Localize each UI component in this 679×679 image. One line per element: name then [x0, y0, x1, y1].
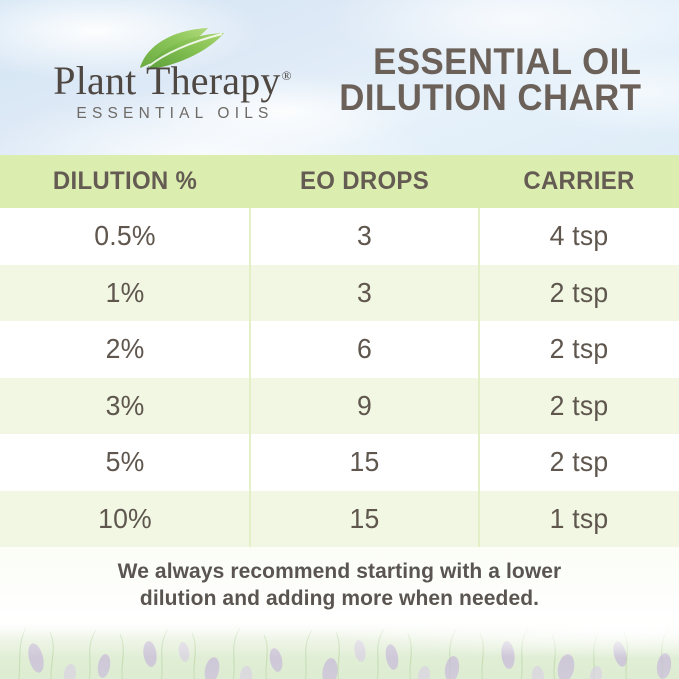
note-line2: dilution and adding more when needed.: [140, 587, 539, 610]
column-divider: [478, 378, 480, 435]
dilution-table: DILUTION % EO DROPS CARRIER 0.5% 3 4 tsp…: [0, 155, 679, 547]
cell-drops: 9: [256, 390, 474, 422]
table-row: 0.5% 3 4 tsp: [0, 208, 679, 265]
cell-carrier: 2 tsp: [484, 390, 674, 422]
cell-drops: 15: [256, 446, 474, 478]
table-row: 1% 3 2 tsp: [0, 265, 679, 322]
recommendation-note: We always recommend starting with a lowe…: [0, 547, 679, 624]
column-divider: [249, 208, 251, 265]
column-divider: [249, 434, 251, 491]
cell-carrier: 2 tsp: [484, 277, 674, 309]
table-header-row: DILUTION % EO DROPS CARRIER: [0, 155, 679, 208]
cell-drops: 15: [256, 503, 474, 535]
brand-name: Plant Therapy®: [53, 61, 291, 101]
table-row: 2% 6 2 tsp: [0, 321, 679, 378]
note-text: We always recommend starting with a lowe…: [118, 559, 562, 613]
header-banner: Plant Therapy® ESSENTIAL OILS ESSENTIAL …: [0, 0, 679, 155]
brand-name-text: Plant Therapy: [53, 58, 280, 103]
lavender-field-photo: [0, 624, 679, 679]
cell-carrier: 2 tsp: [484, 446, 674, 478]
column-divider: [478, 208, 480, 265]
column-divider: [249, 265, 251, 322]
cell-carrier: 4 tsp: [484, 220, 674, 252]
brand-logo: Plant Therapy® ESSENTIAL OILS: [40, 28, 305, 123]
column-divider: [478, 434, 480, 491]
table-row: 3% 9 2 tsp: [0, 378, 679, 435]
column-divider: [478, 265, 480, 322]
cell-dilution: 10%: [6, 503, 244, 535]
column-header-dilution: DILUTION %: [5, 167, 245, 196]
column-divider: [478, 321, 480, 378]
column-header-carrier: CARRIER: [483, 167, 675, 196]
registered-mark: ®: [282, 68, 292, 83]
cell-dilution: 1%: [6, 277, 244, 309]
page-title-line2: DILUTION CHART: [339, 80, 641, 116]
cell-dilution: 3%: [6, 390, 244, 422]
column-divider: [249, 321, 251, 378]
cell-drops: 6: [256, 333, 474, 365]
cell-drops: 3: [256, 220, 474, 252]
page-title-line1: ESSENTIAL OIL: [339, 44, 641, 80]
dilution-chart-poster: Plant Therapy® ESSENTIAL OILS ESSENTIAL …: [0, 0, 679, 679]
cell-carrier: 2 tsp: [484, 333, 674, 365]
note-line1: We always recommend starting with a lowe…: [118, 560, 562, 583]
cell-dilution: 0.5%: [6, 220, 244, 252]
column-divider: [249, 378, 251, 435]
column-divider: [478, 491, 480, 548]
cell-carrier: 1 tsp: [484, 503, 674, 535]
cell-dilution: 2%: [6, 333, 244, 365]
page-title: ESSENTIAL OIL DILUTION CHART: [339, 44, 641, 115]
brand-tagline: ESSENTIAL OILS: [40, 105, 305, 123]
column-header-eo-drops: EO DROPS: [255, 167, 475, 196]
cell-drops: 3: [256, 277, 474, 309]
cell-dilution: 5%: [6, 446, 244, 478]
column-divider: [249, 491, 251, 548]
table-row: 5% 15 2 tsp: [0, 434, 679, 491]
table-row: 10% 15 1 tsp: [0, 491, 679, 548]
